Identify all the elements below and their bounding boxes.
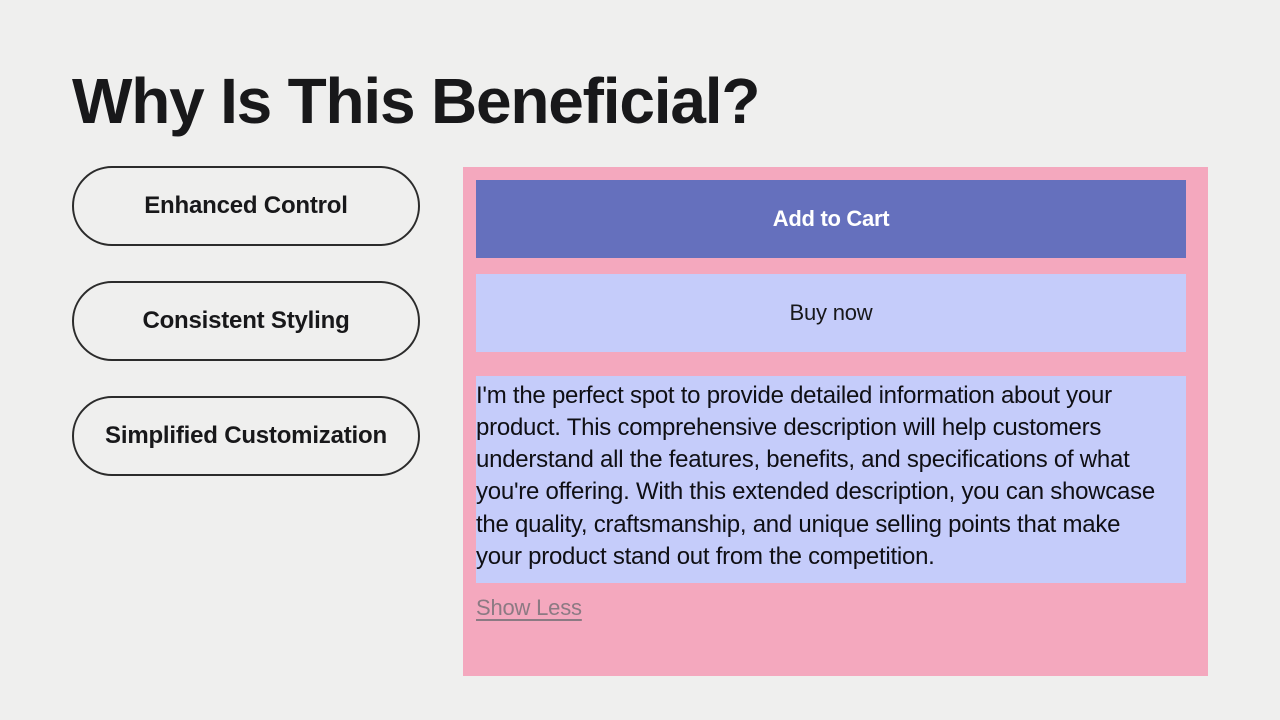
add-to-cart-button[interactable]: Add to Cart — [476, 180, 1186, 258]
benefit-pill-label: Consistent Styling — [124, 306, 367, 336]
product-description-text: I'm the perfect spot to provide detailed… — [476, 380, 1186, 573]
benefit-pill-consistent-styling[interactable]: Consistent Styling — [72, 281, 420, 361]
show-less-link[interactable]: Show Less — [476, 595, 582, 621]
benefit-pill-label: Simplified Customization — [87, 421, 405, 451]
benefit-pill-label: Enhanced Control — [126, 191, 365, 221]
buy-now-button[interactable]: Buy now — [476, 274, 1186, 352]
product-card-panel: Add to Cart Buy now I'm the perfect spot… — [463, 167, 1208, 676]
page-title: Why Is This Beneficial? — [72, 66, 759, 136]
benefit-list: Enhanced Control Consistent Styling Simp… — [72, 166, 420, 511]
benefit-pill-enhanced-control[interactable]: Enhanced Control — [72, 166, 420, 246]
slide-canvas: Why Is This Beneficial? Enhanced Control… — [0, 0, 1280, 720]
product-description-box: I'm the perfect spot to provide detailed… — [476, 376, 1186, 583]
add-to-cart-label: Add to Cart — [773, 206, 889, 232]
benefit-pill-simplified-customization[interactable]: Simplified Customization — [72, 396, 420, 476]
buy-now-label: Buy now — [790, 300, 873, 326]
